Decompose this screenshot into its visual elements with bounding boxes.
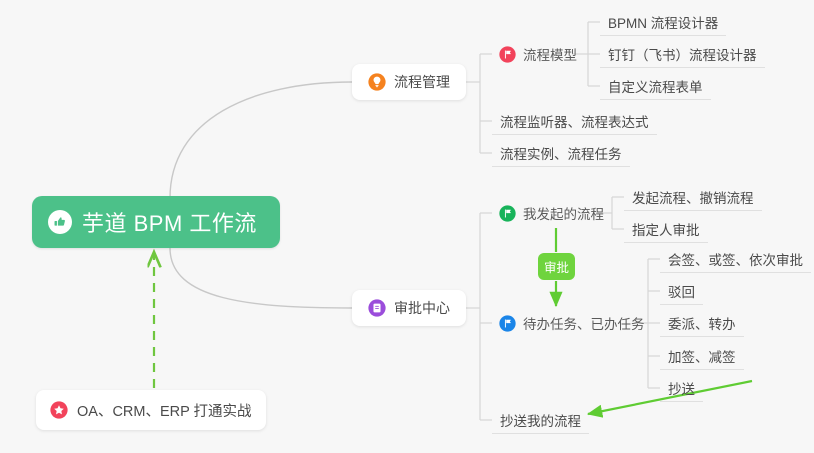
leaf-label: 抄送 (668, 378, 695, 398)
leaf-start-cancel-process[interactable]: 发起流程、撤销流程 (624, 183, 762, 211)
leaf-countersign[interactable]: 会签、或签、依次审批 (660, 245, 811, 273)
branch-approval-center[interactable]: 审批中心 (352, 290, 466, 326)
leaf-cc[interactable]: 抄送 (660, 374, 703, 402)
branch-label: 流程管理 (394, 72, 450, 92)
mindmap-canvas: 芋道 BPM 工作流 OA、CRM、ERP 打通实战 流程管理 (0, 0, 814, 453)
leaf-delegate-transfer[interactable]: 委派、转办 (660, 309, 744, 337)
leaf-label: 自定义流程表单 (608, 76, 703, 96)
flag-icon (498, 45, 516, 63)
flag-icon (498, 314, 516, 332)
leaf-bpmn-designer[interactable]: BPMN 流程设计器 (600, 8, 726, 36)
node-label: 待办任务、已办任务 (523, 313, 645, 333)
leaf-reject[interactable]: 驳回 (660, 277, 703, 305)
thumbs-up-icon (48, 210, 72, 234)
edge-root-to-process-management (170, 82, 352, 198)
leaf-label: 会签、或签、依次审批 (668, 249, 803, 269)
clipboard-icon (368, 299, 386, 317)
leaf-process-instance-task[interactable]: 流程实例、流程任务 (492, 139, 630, 167)
callout-label: OA、CRM、ERP 打通实战 (77, 400, 252, 421)
leaf-cc-my-process[interactable]: 抄送我的流程 (492, 406, 589, 434)
edge-root-to-approval-center (170, 248, 352, 308)
approval-badge[interactable]: 审批 (538, 253, 575, 280)
root-label: 芋道 BPM 工作流 (82, 206, 257, 238)
leaf-add-remove-sign[interactable]: 加签、减签 (660, 342, 744, 370)
leaf-label: 发起流程、撤销流程 (632, 187, 754, 207)
approval-badge-label: 审批 (544, 257, 569, 276)
leaf-label: BPMN 流程设计器 (608, 12, 718, 32)
node-label: 流程模型 (523, 44, 577, 64)
node-my-started-process[interactable]: 我发起的流程 (492, 200, 610, 226)
node-process-model[interactable]: 流程模型 (492, 41, 583, 67)
leaf-assignee-approval[interactable]: 指定人审批 (624, 215, 708, 243)
callout-card[interactable]: OA、CRM、ERP 打通实战 (36, 390, 266, 430)
leaf-label: 委派、转办 (668, 313, 736, 333)
leaf-custom-form[interactable]: 自定义流程表单 (600, 72, 711, 100)
leaf-label: 钉钉（飞书）流程设计器 (608, 44, 757, 64)
leaf-label: 抄送我的流程 (500, 410, 581, 430)
leaf-label: 流程实例、流程任务 (500, 143, 622, 163)
leaf-label: 流程监听器、流程表达式 (500, 111, 649, 131)
node-todo-done-tasks[interactable]: 待办任务、已办任务 (492, 310, 651, 336)
flag-icon (498, 204, 516, 222)
leaf-dingtalk-designer[interactable]: 钉钉（飞书）流程设计器 (600, 40, 765, 68)
lightbulb-icon (368, 73, 386, 91)
node-label: 我发起的流程 (523, 203, 604, 223)
leaf-label: 驳回 (668, 281, 695, 301)
leaf-label: 加签、减签 (668, 346, 736, 366)
branch-process-management[interactable]: 流程管理 (352, 64, 466, 100)
leaf-process-listener-expression[interactable]: 流程监听器、流程表达式 (492, 107, 657, 135)
star-icon (50, 401, 68, 419)
leaf-label: 指定人审批 (632, 219, 700, 239)
branch-label: 审批中心 (394, 298, 450, 318)
root-node[interactable]: 芋道 BPM 工作流 (32, 196, 280, 248)
